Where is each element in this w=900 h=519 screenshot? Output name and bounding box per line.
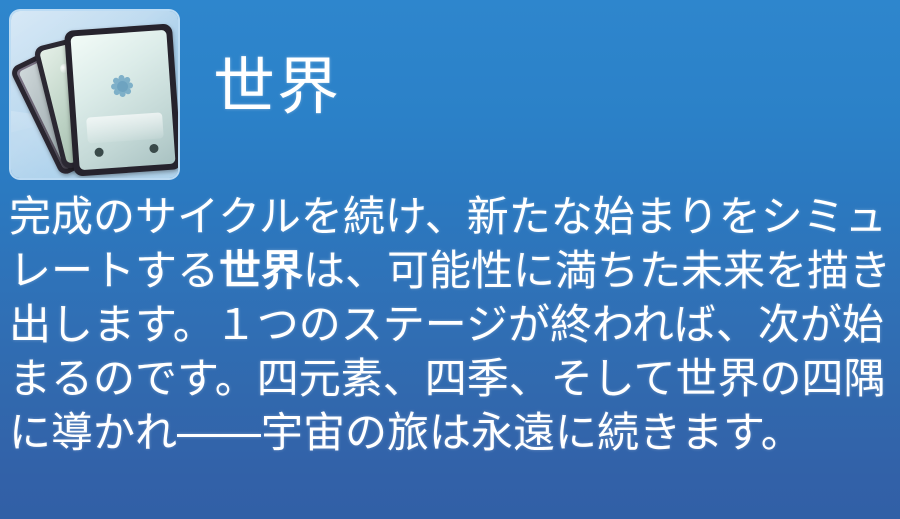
tarot-card-stack-icon — [11, 11, 178, 178]
card-front-icon — [64, 23, 178, 176]
card-front-pip — [94, 147, 104, 157]
card-front-pip — [149, 144, 159, 154]
description-text: 完成のサイクルを続け、新たな始まりをシミュレートする世界は、可能性に満ちた未来を… — [9, 190, 893, 460]
card-front-band — [86, 112, 164, 143]
description-segment-emphasis: 世界 — [219, 246, 303, 295]
tooltip-header: 世界 — [0, 0, 900, 190]
star-emblem-icon — [97, 61, 146, 110]
card-front-face — [70, 30, 175, 170]
tooltip-panel: 世界 完成のサイクルを続け、新たな始まりをシミュレートする世界は、可能性に満ちた… — [0, 0, 900, 519]
page-title: 世界 — [213, 56, 341, 118]
